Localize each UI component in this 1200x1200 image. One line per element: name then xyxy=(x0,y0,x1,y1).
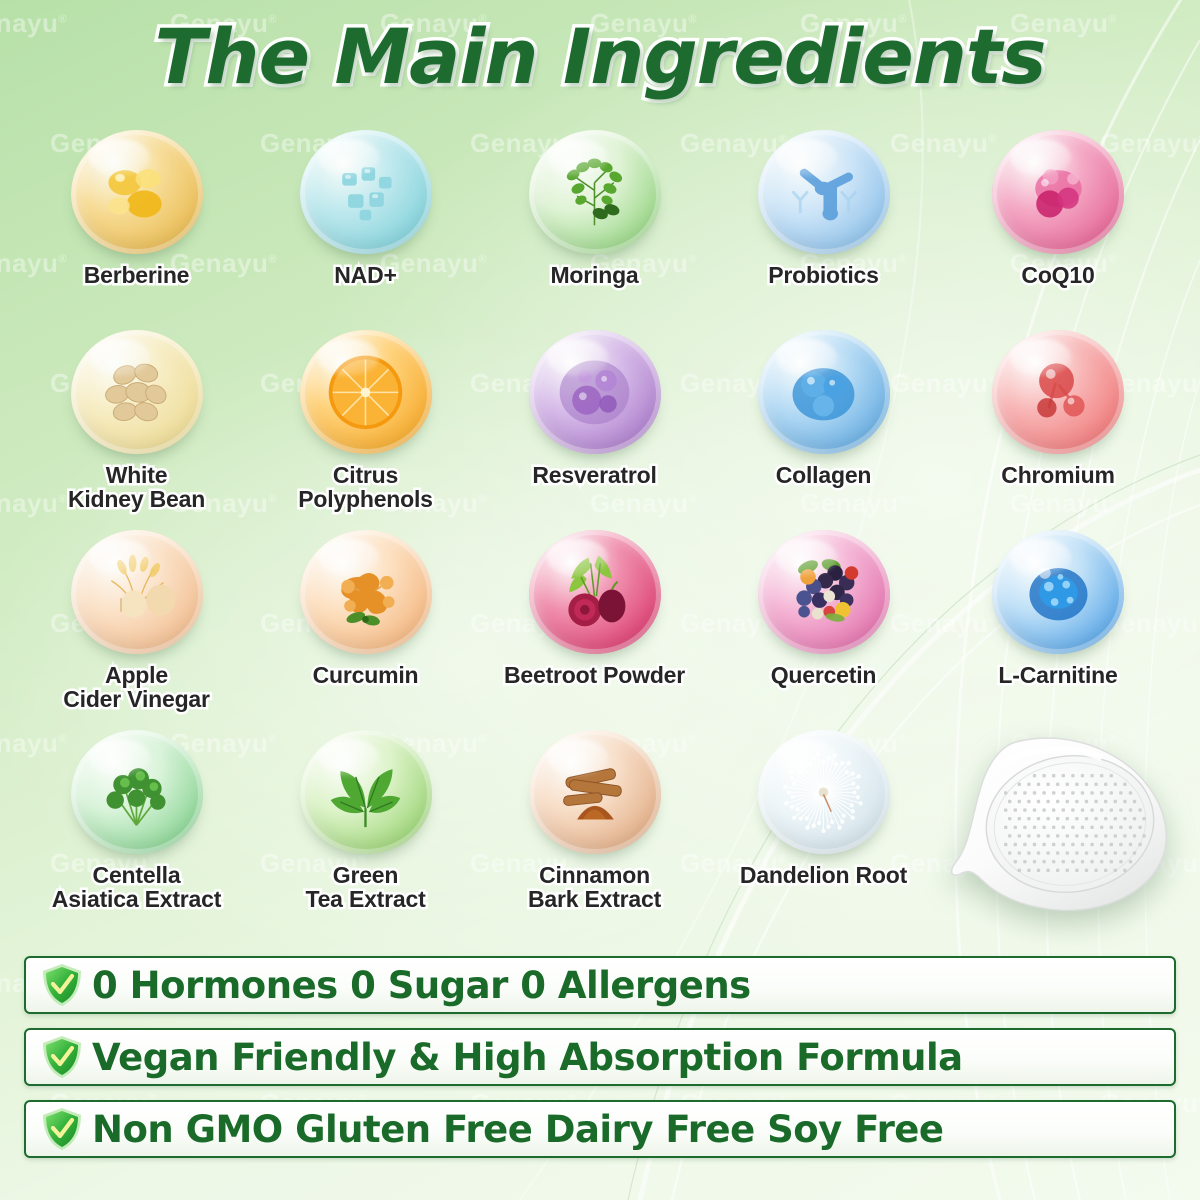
product-image-cell xyxy=(938,726,1178,926)
ingredient-card[interactable]: Quercetin xyxy=(709,526,938,726)
ingredient-artwork xyxy=(300,730,432,854)
ingredient-artwork xyxy=(300,130,432,254)
apple-cider-vinegar-droplet xyxy=(71,530,203,654)
ingredient-label: CoQ10 xyxy=(1021,264,1094,288)
coq10-droplet xyxy=(992,130,1124,254)
ingredient-label: Centella Asiatica Extract xyxy=(52,864,221,912)
shield-check-icon xyxy=(40,962,84,1008)
ingredient-label: Citrus Polyphenols xyxy=(298,464,433,512)
ingredient-card[interactable]: Berberine xyxy=(22,126,251,326)
ingredient-label: Curcumin xyxy=(313,664,419,688)
claim-banner: Vegan Friendly & High Absorption Formula xyxy=(24,1028,1176,1086)
moringa-leaf-droplet xyxy=(529,130,661,254)
ingredient-label: Apple Cider Vinegar xyxy=(63,664,210,712)
ingredient-label: L-Carnitine xyxy=(998,664,1117,688)
ingredient-artwork xyxy=(992,530,1124,654)
ingredient-bubble-holder xyxy=(65,526,209,658)
ingredient-bubble-holder xyxy=(523,526,667,658)
ingredients-infographic: Genayu®Genayu®Genayu®Genayu®Genayu®Genay… xyxy=(0,0,1200,1200)
claims-list: 0 Hormones 0 Sugar 0 AllergensVegan Frie… xyxy=(24,956,1176,1172)
ingredient-card[interactable]: Citrus Polyphenols xyxy=(251,326,480,526)
ingredient-label: Resveratrol xyxy=(532,464,656,488)
ingredient-label: White Kidney Bean xyxy=(68,464,205,512)
ingredient-card[interactable]: Curcumin xyxy=(251,526,480,726)
ingredient-bubble-holder xyxy=(65,326,209,458)
ingredient-artwork xyxy=(529,330,661,454)
ingredient-bubble-holder xyxy=(986,126,1130,258)
ingredient-card[interactable]: Apple Cider Vinegar xyxy=(22,526,251,726)
ingredient-card[interactable]: Resveratrol xyxy=(480,326,709,526)
ingredient-bubble-holder xyxy=(294,726,438,858)
ingredient-label: Chromium xyxy=(1001,464,1114,488)
ingredient-bubble-holder xyxy=(523,726,667,858)
beetroot-droplet xyxy=(529,530,661,654)
claim-banner: 0 Hormones 0 Sugar 0 Allergens xyxy=(24,956,1176,1014)
ingredient-label: Cinnamon Bark Extract xyxy=(528,864,661,912)
ingredient-card[interactable]: Cinnamon Bark Extract xyxy=(480,726,709,926)
ingredient-card[interactable]: Moringa xyxy=(480,126,709,326)
ingredient-bubble-holder xyxy=(294,126,438,258)
ingredient-bubble-holder xyxy=(752,326,896,458)
ingredient-card[interactable]: Dandelion Root xyxy=(709,726,938,926)
centella-droplet xyxy=(71,730,203,854)
nad-plus-droplet xyxy=(300,130,432,254)
ingredient-artwork xyxy=(758,530,890,654)
ingredient-artwork xyxy=(992,330,1124,454)
ingredient-bubble-holder xyxy=(294,526,438,658)
ingredient-bubble-holder xyxy=(65,126,209,258)
ingredient-bubble-holder xyxy=(523,326,667,458)
ingredient-card[interactable]: Green Tea Extract xyxy=(251,726,480,926)
dandelion-root-droplet xyxy=(758,730,890,854)
white-kidney-bean-droplet xyxy=(71,330,203,454)
ingredient-artwork xyxy=(758,330,890,454)
ingredient-bubble-holder xyxy=(523,126,667,258)
ingredient-label: NAD+ xyxy=(334,264,396,288)
ingredient-card[interactable]: NAD+ xyxy=(251,126,480,326)
ingredient-card[interactable]: White Kidney Bean xyxy=(22,326,251,526)
citrus-slice-droplet xyxy=(300,330,432,454)
ingredient-card[interactable]: CoQ10 xyxy=(938,126,1178,326)
ingredient-bubble-holder xyxy=(986,326,1130,458)
ingredient-card[interactable]: Chromium xyxy=(938,326,1178,526)
ingredient-label: Green Tea Extract xyxy=(305,864,425,912)
ingredient-bubble-holder xyxy=(752,526,896,658)
green-tea-droplet xyxy=(300,730,432,854)
slimming-patch xyxy=(946,730,1178,918)
ingredient-artwork xyxy=(300,530,432,654)
ingredient-card[interactable]: Centella Asiatica Extract xyxy=(22,726,251,926)
claim-text: 0 Hormones 0 Sugar 0 Allergens xyxy=(92,967,751,1004)
ingredient-artwork xyxy=(300,330,432,454)
ingredient-artwork xyxy=(529,530,661,654)
cinnamon-bark-droplet xyxy=(529,730,661,854)
ingredient-card[interactable]: Collagen xyxy=(709,326,938,526)
claim-text: Vegan Friendly & High Absorption Formula xyxy=(92,1039,963,1076)
ingredient-card[interactable]: Beetroot Powder xyxy=(480,526,709,726)
ingredient-label: Moringa xyxy=(550,264,638,288)
page-title: The Main Ingredients xyxy=(155,12,1046,101)
ingredient-bubble-holder xyxy=(752,726,896,858)
ingredient-label: Dandelion Root xyxy=(740,864,907,888)
ingredient-label: Probiotics xyxy=(768,264,878,288)
probiotics-droplet xyxy=(758,130,890,254)
shield-check-icon xyxy=(40,1034,84,1080)
ingredient-artwork xyxy=(758,730,890,854)
claim-text: Non GMO Gluten Free Dairy Free Soy Free xyxy=(92,1111,944,1148)
berberine-droplet xyxy=(71,130,203,254)
ingredient-artwork xyxy=(71,730,203,854)
l-carnitine-droplet xyxy=(992,530,1124,654)
ingredient-artwork xyxy=(529,730,661,854)
ingredient-bubble-holder xyxy=(294,326,438,458)
ingredient-artwork xyxy=(71,330,203,454)
ingredient-card[interactable]: Probiotics xyxy=(709,126,938,326)
ingredient-label: Berberine xyxy=(84,264,190,288)
ingredient-label: Collagen xyxy=(776,464,872,488)
ingredient-artwork xyxy=(71,130,203,254)
ingredient-artwork xyxy=(992,130,1124,254)
ingredient-artwork xyxy=(529,130,661,254)
chromium-droplet xyxy=(992,330,1124,454)
ingredient-artwork xyxy=(758,130,890,254)
curcumin-turmeric-droplet xyxy=(300,530,432,654)
page-title-container: The Main Ingredients xyxy=(0,12,1200,101)
ingredient-artwork xyxy=(71,530,203,654)
claim-banner: Non GMO Gluten Free Dairy Free Soy Free xyxy=(24,1100,1176,1158)
shield-check-icon xyxy=(40,1106,84,1152)
ingredient-bubble-holder xyxy=(65,726,209,858)
ingredient-card[interactable]: L-Carnitine xyxy=(938,526,1178,726)
ingredient-bubble-holder xyxy=(986,526,1130,658)
ingredient-grid: BerberineNAD+MoringaProbioticsCoQ10White… xyxy=(22,126,1178,926)
ingredient-bubble-holder xyxy=(752,126,896,258)
ingredient-label: Beetroot Powder xyxy=(504,664,685,688)
resveratrol-droplet xyxy=(529,330,661,454)
collagen-droplet xyxy=(758,330,890,454)
quercetin-berries-droplet xyxy=(758,530,890,654)
ingredient-label: Quercetin xyxy=(771,664,877,688)
